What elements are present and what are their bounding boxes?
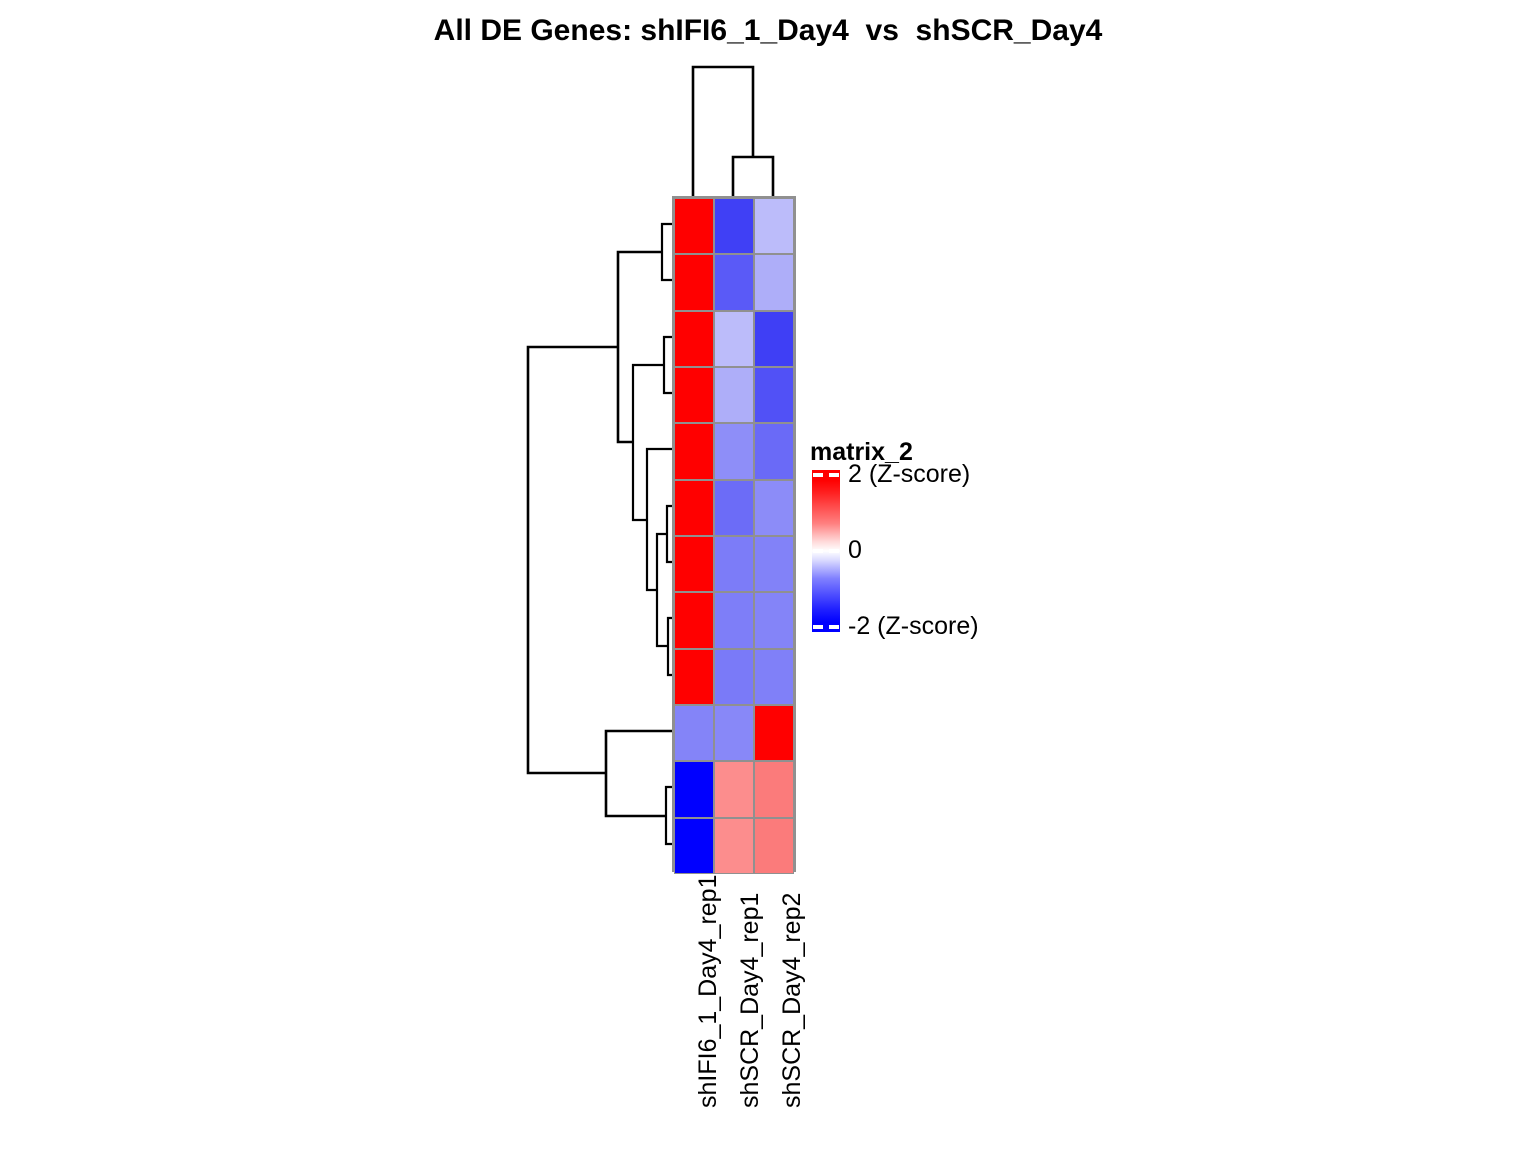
- heatmap-cell: [674, 818, 714, 874]
- heatmap-cell: [754, 818, 794, 874]
- legend-label-min: -2 (Z-score): [848, 612, 979, 641]
- heatmap-row: [674, 311, 794, 367]
- heatmap-cell: [754, 592, 794, 648]
- heatmap-cell: [754, 761, 794, 817]
- colorbar-tick-min-right: [829, 625, 839, 629]
- column-label-2: shSCR_Day4_rep2: [778, 893, 807, 1108]
- heatmap-cell: [714, 254, 754, 310]
- heatmap-cell: [754, 423, 794, 479]
- column-label-0: shIFI6_1_Day4_rep1: [694, 875, 723, 1108]
- heatmap-row: [674, 818, 794, 874]
- heatmap-cell: [754, 705, 794, 761]
- heatmap-cell: [674, 198, 714, 254]
- heatmap-row: [674, 423, 794, 479]
- heatmap-cell: [714, 818, 754, 874]
- heatmap-row: [674, 761, 794, 817]
- page-title: All DE Genes: shIFI6_1_Day4 vs shSCR_Day…: [0, 14, 1536, 48]
- legend-colorbar: [812, 470, 840, 632]
- heatmap-cell: [714, 761, 754, 817]
- heatmap-cell: [754, 367, 794, 423]
- column-dendrogram: [660, 60, 810, 200]
- column-label-1: shSCR_Day4_rep1: [736, 893, 765, 1108]
- heatmap-row: [674, 480, 794, 536]
- heatmap-cell: [674, 705, 714, 761]
- heatmap-cell: [714, 311, 754, 367]
- heatmap-cell: [674, 480, 714, 536]
- heatmap-row: [674, 705, 794, 761]
- heatmap-cell: [714, 423, 754, 479]
- colorbar-tick-mid-left: [813, 549, 823, 553]
- heatmap-cell: [674, 536, 714, 592]
- legend-label-mid: 0: [848, 536, 862, 565]
- heatmap-cell: [754, 536, 794, 592]
- heatmap-row: [674, 254, 794, 310]
- heatmap-cell: [714, 705, 754, 761]
- heatmap-cell: [754, 254, 794, 310]
- heatmap-row: [674, 649, 794, 705]
- colorbar-tick-mid-right: [829, 549, 839, 553]
- heatmap-row: [674, 536, 794, 592]
- heatmap-cell: [714, 536, 754, 592]
- colorbar-tick-min-left: [813, 625, 823, 629]
- heatmap-row: [674, 367, 794, 423]
- heatmap-cell: [674, 649, 714, 705]
- heatmap-cell: [754, 480, 794, 536]
- heatmap-cell: [754, 311, 794, 367]
- colorbar-tick-max-right: [829, 473, 839, 477]
- heatmap-cell: [714, 592, 754, 648]
- row-dendrogram: [520, 190, 680, 880]
- heatmap-cell: [674, 311, 714, 367]
- heatmap-cell: [674, 254, 714, 310]
- heatmap-cell: [714, 649, 754, 705]
- legend: matrix_2 2 (Z-score) 0 -2 (Z-score): [810, 438, 1070, 648]
- heatmap-cell: [714, 198, 754, 254]
- heatmap-figure: All DE Genes: shIFI6_1_Day4 vs shSCR_Day…: [0, 0, 1536, 1152]
- heatmap-cell: [754, 649, 794, 705]
- heatmap-cell: [754, 198, 794, 254]
- heatmap-cell: [674, 592, 714, 648]
- heatmap-cell: [714, 480, 754, 536]
- heatmap-grid: [672, 196, 796, 872]
- heatmap-cell: [714, 367, 754, 423]
- heatmap-cell: [674, 367, 714, 423]
- colorbar-tick-max-left: [813, 473, 823, 477]
- legend-label-max: 2 (Z-score): [848, 460, 970, 489]
- heatmap-cell: [674, 423, 714, 479]
- heatmap-row: [674, 592, 794, 648]
- heatmap-cell: [674, 761, 714, 817]
- heatmap-row: [674, 198, 794, 254]
